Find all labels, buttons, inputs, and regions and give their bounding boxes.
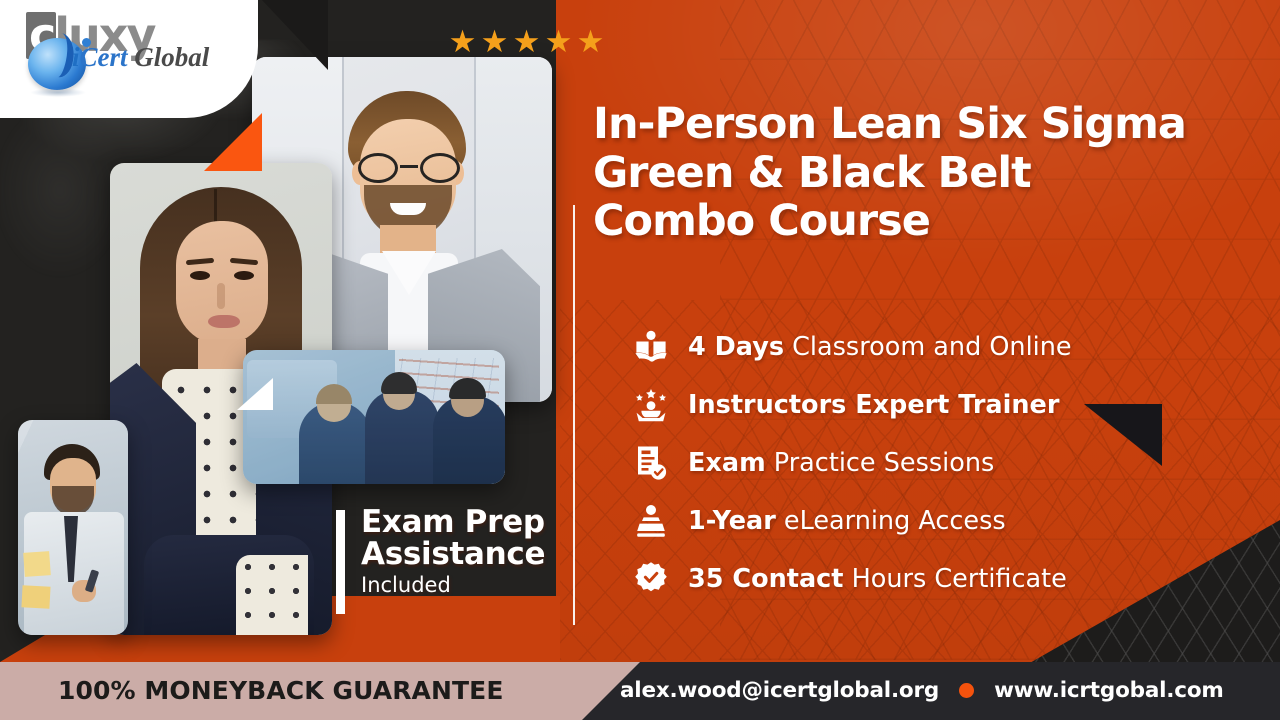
photo-man-whiteboard: [18, 420, 128, 635]
logo-icert-global-text: iCert Global: [72, 42, 209, 73]
promo-banner: cluxy iCert Global ★ ★ ★ ★ ★ Exam Prep A…: [0, 0, 1280, 720]
exam-prep-line1: Exam Prep: [361, 506, 545, 538]
star-icon-1: ★: [448, 27, 477, 56]
separator-dot-icon: [959, 683, 974, 698]
page-title: In-Person Lean Six Sigma Green & Black B…: [593, 100, 1273, 246]
exam-prep-accent-bar: [336, 510, 345, 614]
feature-item-elearning: 1-Year eLearning Access: [628, 492, 1268, 550]
content-column: In-Person Lean Six Sigma Green & Black B…: [593, 0, 1280, 720]
feature-list: 4 Days Classroom and Online Instructors …: [628, 318, 1268, 608]
exam-prep-line3: Included: [361, 572, 545, 599]
feature-item-contact-hours: 35 Contact Hours Certificate: [628, 550, 1268, 608]
exam-prep-callout: Exam Prep Assistance Included: [336, 506, 545, 600]
star-icon-3: ★: [512, 27, 541, 56]
logo-i: i: [72, 42, 80, 72]
expert-trainer-icon: [628, 383, 674, 427]
feature-item-days: 4 Days Classroom and Online: [628, 318, 1268, 376]
feature-label-trainer: Instructors Expert Trainer: [688, 391, 1059, 419]
star-icon-4: ★: [544, 27, 573, 56]
feature-regular-days: Classroom and Online: [792, 332, 1072, 362]
footer-bar: 100% MONEYBACK GUARANTEE alex.wood@icert…: [0, 662, 1280, 720]
feature-regular-exam: Practice Sessions: [774, 448, 995, 478]
feature-bold-contact-hours: 35 Contact: [688, 564, 843, 594]
rating-stars: ★ ★ ★ ★ ★: [448, 27, 605, 56]
moneyback-guarantee-text: 100% MONEYBACK GUARANTEE: [58, 676, 504, 705]
footer-contact-group: alex.wood@icertglobal.org www.icrtgobal.…: [620, 678, 1224, 703]
photo-team-meeting: [243, 350, 505, 484]
contact-website[interactable]: www.icrtgobal.com: [994, 678, 1224, 703]
feature-bold-trainer: Instructors Expert Trainer: [688, 390, 1059, 420]
feature-item-trainer: Instructors Expert Trainer: [628, 376, 1268, 434]
feature-bold-elearning: 1-Year: [688, 506, 776, 536]
verified-badge-icon: [628, 557, 674, 601]
feature-label-contact-hours: 35 Contact Hours Certificate: [688, 565, 1067, 593]
feature-regular-contact-hours: Hours Certificate: [852, 564, 1067, 594]
star-icon-2: ★: [480, 27, 509, 56]
feature-label-elearning: 1-Year eLearning Access: [688, 507, 1006, 535]
feature-bold-days: 4 Days: [688, 332, 784, 362]
logo-cert: Cert: [80, 42, 128, 72]
feature-regular-elearning: eLearning Access: [784, 506, 1006, 536]
feature-bold-exam: Exam: [688, 448, 766, 478]
podium-icon: [628, 499, 674, 543]
logo-global: Global: [134, 42, 209, 72]
brand-logo[interactable]: cluxy iCert Global: [26, 12, 154, 59]
vertical-divider: [573, 205, 575, 625]
headline-line2: Green & Black Belt: [593, 149, 1273, 198]
feature-label-days: 4 Days Classroom and Online: [688, 333, 1072, 361]
exam-document-icon: [628, 441, 674, 485]
feature-item-exam: Exam Practice Sessions: [628, 434, 1268, 492]
book-reader-icon: [628, 325, 674, 369]
exam-prep-line2: Assistance: [361, 538, 545, 570]
headline-line1: In-Person Lean Six Sigma: [593, 100, 1273, 149]
contact-email[interactable]: alex.wood@icertglobal.org: [620, 678, 939, 703]
logo-reflection: [30, 88, 86, 97]
headline-line3: Combo Course: [593, 197, 1273, 246]
feature-label-exam: Exam Practice Sessions: [688, 449, 994, 477]
star-icon-5: ★: [576, 27, 605, 56]
